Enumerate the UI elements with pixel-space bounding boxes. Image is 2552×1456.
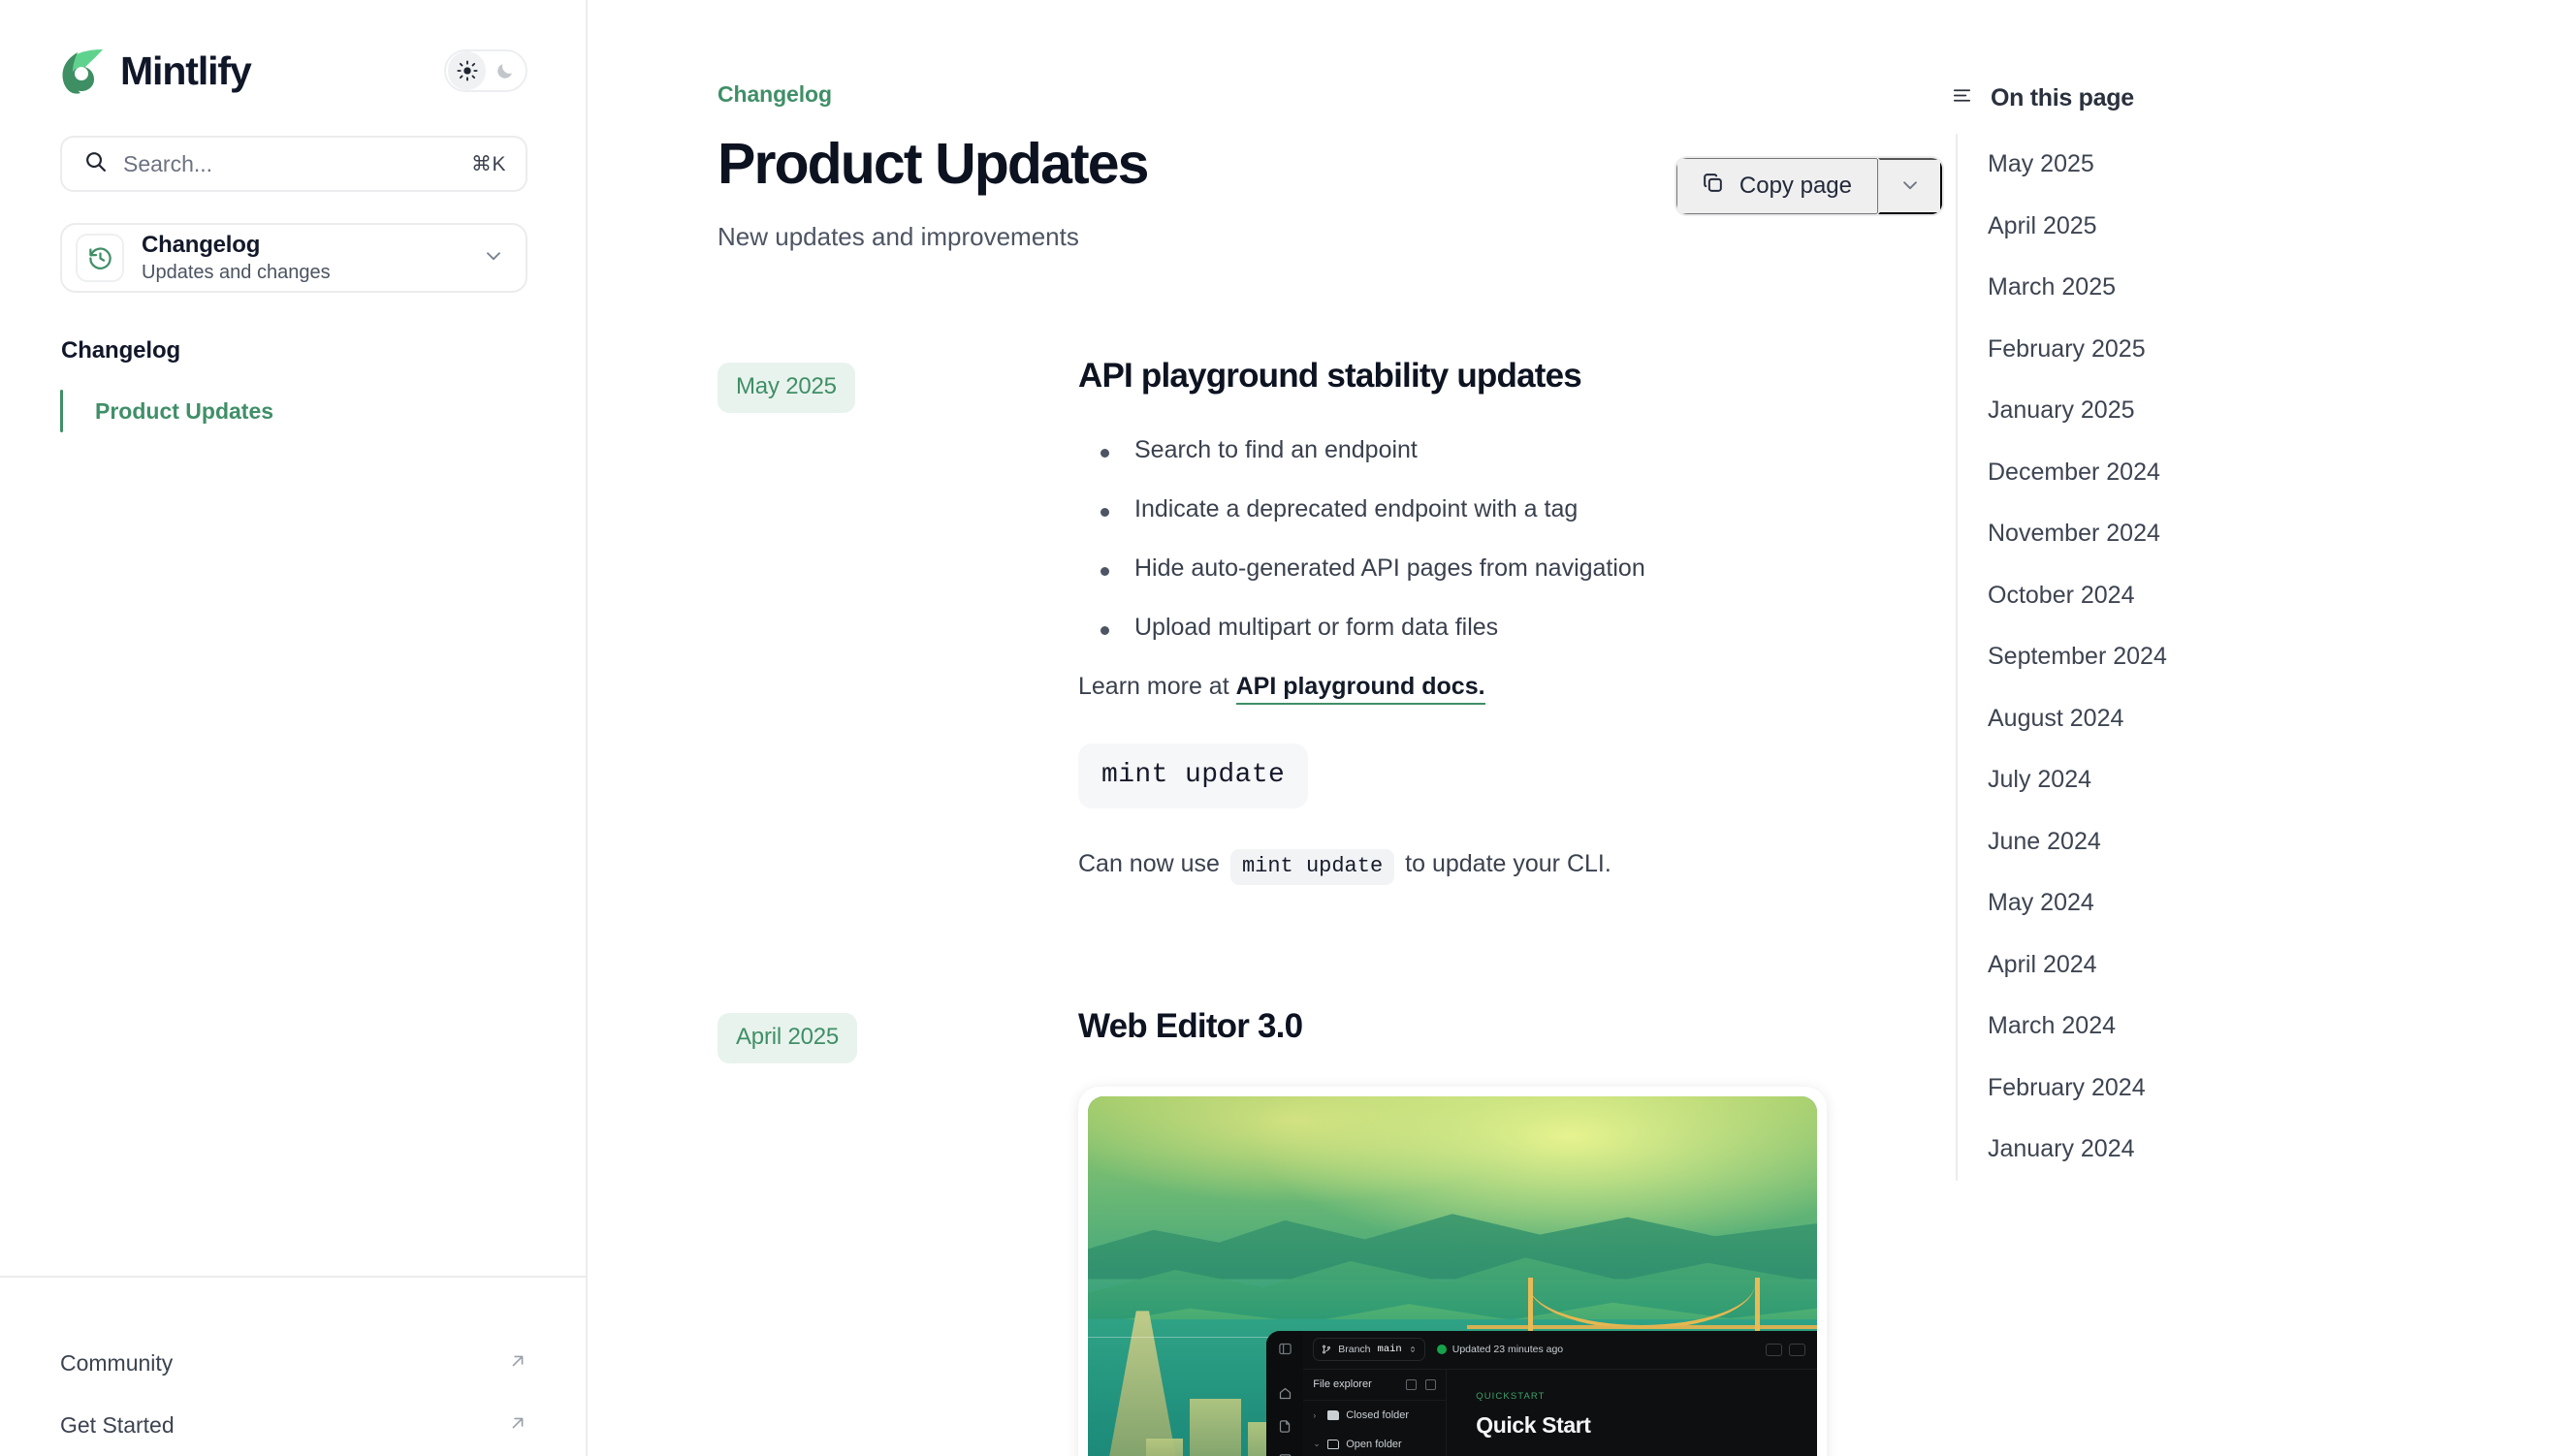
sidebar-footer-link-get-started[interactable]: Get Started	[60, 1394, 527, 1456]
toc-title: On this page	[1991, 84, 2134, 112]
file-name: Closed folder	[1346, 1409, 1409, 1421]
breadcrumb[interactable]: Changelog	[718, 81, 1944, 108]
sidebar-footer-label: Get Started	[60, 1412, 175, 1439]
nav-card-text: Changelog Updates and changes	[142, 233, 465, 283]
list-item: Indicate a deprecated endpoint with a ta…	[1078, 495, 1944, 523]
branch-selector[interactable]: Branch main	[1313, 1338, 1425, 1361]
folder-open-icon	[1327, 1440, 1339, 1449]
chevron-down-icon[interactable]	[483, 245, 510, 271]
toc-item-label: August 2024	[1988, 705, 2123, 733]
toc-item-label: April 2025	[1988, 212, 2097, 240]
file-explorer-panel: File explorer	[1303, 1370, 1447, 1456]
copy-page-button[interactable]: Copy page	[1676, 158, 1878, 214]
toc-item[interactable]: May 2025	[1958, 134, 2552, 196]
entry-bullet-list: Search to find an endpoint Indicate a de…	[1078, 436, 1944, 642]
image-icon[interactable]	[1278, 1452, 1292, 1456]
toc-item-label: January 2024	[1988, 1135, 2135, 1163]
search-placeholder: Search...	[123, 151, 456, 177]
editor-updated-status: Updated 23 minutes ago	[1437, 1344, 1563, 1355]
doc-title: Quick Start	[1476, 1412, 1817, 1439]
toc-item[interactable]: April 2024	[1958, 934, 2552, 997]
entry-date-column: May 2025	[718, 357, 1078, 413]
list-item: Upload multipart or form data files	[1078, 614, 1944, 642]
entry-date-column: April 2025	[718, 1007, 1078, 1063]
search-shortcut: ⌘K	[471, 152, 506, 176]
sun-icon[interactable]	[448, 51, 486, 90]
editor-document-preview: QUICKSTART Quick Start	[1447, 1370, 1817, 1456]
history-clock-icon	[76, 234, 124, 282]
toc-item[interactable]: August 2024	[1958, 688, 2552, 750]
mintlify-leaf-logo-icon	[60, 47, 105, 94]
toc-item[interactable]: October 2024	[1958, 565, 2552, 627]
toc-item[interactable]: June 2024	[1958, 811, 2552, 873]
sidebar-item-label: Product Updates	[95, 398, 273, 425]
toc-item[interactable]: January 2024	[1958, 1119, 2552, 1181]
toc-item[interactable]: May 2024	[1958, 872, 2552, 934]
nav-dropdown-changelog[interactable]: Changelog Updates and changes	[60, 223, 527, 293]
list-item: Search to find an endpoint	[1078, 436, 1944, 464]
page-title: Product Updates	[718, 135, 1148, 195]
cli-suffix: to update your CLI.	[1405, 850, 1611, 878]
editor-topbar-actions	[1766, 1344, 1805, 1356]
nav-card-title: Changelog	[142, 233, 465, 259]
sidebar-footer-link-community[interactable]: Community	[60, 1332, 527, 1394]
date-badge: May 2025	[718, 363, 855, 413]
date-badge: April 2025	[718, 1013, 857, 1063]
toc-item-label: September 2024	[1988, 643, 2167, 671]
file-explorer-row[interactable]: › Closed folder	[1303, 1401, 1446, 1430]
nav-card-subtitle: Updates and changes	[142, 262, 465, 283]
moon-icon[interactable]	[486, 51, 524, 90]
learn-more-line: Learn more at API playground docs.	[1078, 673, 1944, 701]
chevron-down-icon: ⌄	[1313, 1439, 1321, 1449]
main-content: Changelog Product Updates New updates an…	[588, 0, 2552, 1456]
sidebar-item-list: Product Updates	[60, 386, 527, 436]
toc-item-label: December 2024	[1988, 459, 2160, 487]
toc-item-label: January 2025	[1988, 396, 2135, 425]
copy-page-dropdown-button[interactable]	[1878, 158, 1942, 214]
external-link-icon	[508, 1413, 527, 1438]
page-subtitle: New updates and improvements	[718, 222, 1148, 252]
file-name: Open folder	[1346, 1439, 1401, 1450]
toc-item[interactable]: March 2025	[1958, 257, 2552, 319]
updated-text: Updated 23 minutes ago	[1452, 1344, 1563, 1355]
new-file-icon[interactable]	[1425, 1379, 1436, 1390]
text-format-icon[interactable]	[1766, 1344, 1782, 1356]
changelog-entry: April 2025 Web Editor 3.0	[718, 1007, 1944, 1456]
sidebar-footer-label: Community	[60, 1350, 173, 1377]
chevron-down-icon	[1899, 174, 1921, 199]
bridge-cable	[1528, 1283, 1756, 1329]
toc-item[interactable]: July 2024	[1958, 749, 2552, 811]
toc-item[interactable]: January 2025	[1958, 380, 2552, 442]
code-block: mint update	[1078, 744, 1308, 808]
doc-eyebrow: QUICKSTART	[1476, 1391, 1817, 1402]
toc-item-label: May 2024	[1988, 889, 2094, 917]
toc-item-label: February 2024	[1988, 1074, 2146, 1102]
toc-item[interactable]: March 2024	[1958, 996, 2552, 1058]
file-explorer-row[interactable]: ⌄ Open folder	[1303, 1430, 1446, 1456]
toc-item[interactable]: February 2025	[1958, 319, 2552, 381]
entry-title: API playground stability updates	[1078, 357, 1944, 396]
left-sidebar: Mintlify	[0, 0, 588, 1456]
panel-toggle-icon[interactable]	[1278, 1342, 1292, 1356]
toc-list: May 2025 April 2025 March 2025 February …	[1956, 134, 2552, 1181]
toc-header: On this page	[1939, 81, 2552, 114]
changelog-entry: May 2025 API playground stability update…	[718, 357, 1944, 885]
editor-topbar: Branch main Updated 23 minutes ago	[1303, 1331, 1817, 1370]
file-edit-icon[interactable]	[1278, 1419, 1292, 1434]
entry-title: Web Editor 3.0	[1078, 1007, 1944, 1046]
preview-icon[interactable]	[1789, 1344, 1805, 1356]
editor-columns: File explorer	[1303, 1370, 1817, 1456]
editor-icon-rail	[1266, 1331, 1303, 1456]
external-link-icon	[508, 1351, 527, 1376]
illustration-building	[1190, 1399, 1241, 1456]
documentation-page: Mintlify	[0, 0, 2552, 1456]
search-icon	[83, 149, 108, 178]
brand-name: Mintlify	[120, 48, 251, 94]
toc-item-label: February 2025	[1988, 335, 2146, 364]
toc-item[interactable]: February 2024	[1958, 1058, 2552, 1120]
api-playground-docs-link[interactable]: API playground docs.	[1236, 673, 1485, 705]
file-explorer-title: File explorer	[1313, 1378, 1372, 1390]
entry-body: Web Editor 3.0	[1078, 1007, 1944, 1456]
toc-item[interactable]: September 2024	[1958, 626, 2552, 688]
file-explorer-actions	[1406, 1379, 1436, 1390]
cli-update-line: Can now use mint update to update your C…	[1078, 849, 1944, 885]
sidebar-top: Mintlify	[0, 0, 586, 436]
sidebar-section-title: Changelog	[60, 337, 527, 364]
brand-row: Mintlify	[60, 41, 527, 101]
page-header: Product Updates New updates and improvem…	[718, 135, 1944, 252]
toc-item-label: March 2025	[1988, 273, 2116, 301]
copy-page-button-group: Copy page	[1675, 156, 1944, 216]
sidebar-section-changelog: Changelog Product Updates	[60, 337, 527, 436]
toc-item-label: November 2024	[1988, 520, 2160, 548]
learn-more-prefix: Learn more at	[1078, 673, 1236, 700]
illustration-building	[1146, 1439, 1183, 1456]
search-input[interactable]: Search... ⌘K	[60, 136, 527, 192]
brand-logo-link[interactable]: Mintlify	[60, 47, 251, 94]
new-folder-icon[interactable]	[1406, 1379, 1417, 1390]
sidebar-footer: Community Get Started	[0, 1276, 586, 1456]
toc-item[interactable]: December 2024	[1958, 442, 2552, 504]
table-of-contents: On this page May 2025 April 2025 March 2…	[1939, 0, 2552, 1456]
web-editor-screenshot[interactable]: Branch main Updated 23 minutes ago	[1078, 1087, 1827, 1456]
sidebar-item-product-updates[interactable]: Product Updates	[60, 386, 527, 436]
file-explorer-header: File explorer	[1303, 1370, 1446, 1401]
cli-prefix: Can now use	[1078, 850, 1220, 878]
check-circle-icon	[1437, 1345, 1447, 1354]
toc-item-label: May 2025	[1988, 150, 2094, 178]
page-title-block: Product Updates New updates and improvem…	[718, 135, 1148, 252]
copy-page-label: Copy page	[1739, 173, 1852, 200]
toc-item-label: July 2024	[1988, 766, 2091, 794]
toc-item-label: March 2024	[1988, 1012, 2116, 1040]
bridge-deck	[1467, 1325, 1817, 1329]
changelog-entries: May 2025 API playground stability update…	[718, 357, 1944, 1456]
editor-main: Branch main Updated 23 minutes ago	[1303, 1331, 1817, 1456]
copy-icon	[1701, 171, 1725, 202]
inline-code: mint update	[1230, 849, 1394, 885]
toc-item-label: June 2024	[1988, 828, 2101, 856]
branch-name: main	[1378, 1344, 1402, 1355]
toc-item[interactable]: November 2024	[1958, 503, 2552, 565]
toc-item-label: October 2024	[1988, 582, 2135, 610]
branch-label: Branch	[1338, 1344, 1370, 1355]
home-icon[interactable]	[1278, 1386, 1292, 1401]
toc-item[interactable]: April 2025	[1958, 196, 2552, 258]
chevron-right-icon: ›	[1313, 1410, 1321, 1420]
toc-item-label: April 2024	[1988, 951, 2097, 979]
list-icon	[1951, 84, 1973, 111]
folder-icon	[1327, 1410, 1339, 1420]
entry-body: API playground stability updates Search …	[1078, 357, 1944, 885]
embedded-editor-ui: Branch main Updated 23 minutes ago	[1266, 1331, 1817, 1456]
theme-toggle[interactable]	[444, 49, 527, 92]
article: Changelog Product Updates New updates an…	[718, 0, 1944, 1456]
list-item: Hide auto-generated API pages from navig…	[1078, 554, 1944, 583]
screenshot-canvas: Branch main Updated 23 minutes ago	[1088, 1096, 1817, 1456]
